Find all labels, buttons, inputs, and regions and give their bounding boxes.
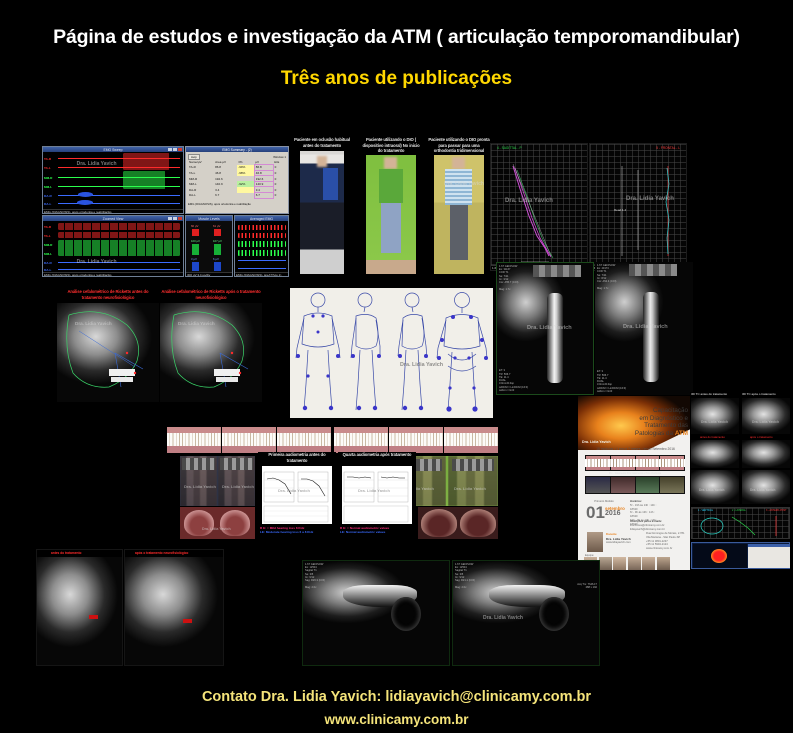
- emg-averaged-status: EMG (DIAGNOSIS), áreA??uto 1): [235, 272, 288, 277]
- flyer-date-month-year: setembro 2016: [605, 506, 625, 517]
- page-title: Página de estudos e investigação da ATM …: [0, 26, 793, 49]
- intraoral-photo-3: [277, 427, 331, 453]
- audiometry-after-line-2: LE: Normal audiometric values: [340, 530, 414, 534]
- ear-canal-void: [391, 597, 421, 631]
- emg-summary-window-label: Window 1: [273, 155, 286, 159]
- muscle-value-3: 100 µV: [191, 239, 200, 243]
- shirt-detail: [323, 168, 338, 200]
- flyer-photo-strip-top: [585, 455, 685, 471]
- emg-averaged-plot: EMG (DIAGNOSIS), áreA??uto 1): [235, 221, 288, 277]
- cervical-mri-right: 1.67 GEN/SOW Ex: 40173 COR T1 Se: 7/11 I…: [595, 262, 693, 395]
- emg-zoomed-plot: TA-R TA-L MM-R MM-L DA-R DA-L Dra. Lidia…: [43, 221, 183, 277]
- emg-channel-label-mm-r: MM-R: [44, 243, 52, 247]
- watermark: Dra. Lidia Yavich: [750, 488, 775, 492]
- level-bar: [214, 262, 221, 271]
- muscle-value-4: 107 µV: [213, 239, 222, 243]
- flyer-address-line-5[interactable]: www.clinicamy.com.br: [646, 547, 688, 551]
- jaw-motion-panel: 1 - VERTICAL 2 - LATERAL 3 - ANTERO-POST: [691, 507, 790, 539]
- patient-photo-2-image: [366, 155, 416, 274]
- tomo-cell-4: [742, 440, 790, 468]
- emg-trace: [58, 262, 180, 263]
- cephalometric-after-caption: Análise cefalométrico de Ricketts após o…: [160, 289, 262, 300]
- flyer-date-number: 01: [586, 506, 605, 520]
- occlusal-photo-after: [418, 507, 498, 539]
- sagittal-trace-svg: [491, 144, 588, 271]
- patient-photo-3: Paciente utilizando o DIO pronta para pa…: [428, 137, 490, 276]
- emg-channel-label-da-r: DA-R: [44, 261, 52, 265]
- emg-burst: [238, 233, 286, 238]
- cephalometric-before: Análise cefalométrico de Ricketts antes …: [57, 289, 159, 402]
- eye-redaction-bar: [452, 459, 494, 471]
- audiometry-after-caption-main: Quarta audiometria após tratamento: [338, 452, 416, 458]
- tmj-corner-meta: Acq Tm: 7h46.1? 288 x 192: [577, 583, 597, 589]
- cell-area: 6.7: [214, 193, 237, 199]
- emg-channel-label-da-l: DA-L: [44, 202, 51, 206]
- emg-sweep-title: EMG Sweep: [103, 148, 122, 152]
- body-chart-svg: [290, 288, 493, 418]
- flyer-date-year: 2016: [605, 511, 625, 517]
- occlusal-arch-2: [220, 510, 250, 536]
- face-blur: [384, 157, 397, 169]
- tomo-cell-5: Dra. Lidia Yavich: [691, 470, 739, 504]
- staff-avatar: [599, 557, 612, 570]
- patient-photo-3-caption: Paciente utilizando o DIO pronta para pa…: [428, 137, 490, 154]
- emg-summary-footer-note: EMG (DIAGNOSIS), após ortodontia e reabi…: [188, 202, 286, 206]
- tmj-mri-right: 1.67 GEN/SOW Ex: 12504 Sagital T1 Se: 3/…: [452, 560, 600, 666]
- emg-burst: [58, 232, 180, 238]
- patient-photo-2: Paciente utilizando o DIO ( dispositivo …: [360, 137, 422, 276]
- emg-channel-label-ta-r: TA-R: [44, 225, 51, 229]
- color-emg-panel: [691, 542, 790, 569]
- intraoral-photo-4: [334, 427, 388, 453]
- frontal-scale-label: Read 1.4: [614, 208, 626, 212]
- floor-detail: [366, 260, 416, 274]
- emg-summary-table: Name/µV Area µV ±% µV Hits TA-R 86.8 -99…: [188, 160, 286, 199]
- emg-channel-label-mm-l: MM-L: [44, 252, 52, 256]
- spinal-cord-region: [547, 293, 563, 383]
- cell-hits: 0: [273, 193, 286, 199]
- marker-label: [89, 615, 98, 619]
- frontal-trace-svg: [590, 144, 687, 271]
- flyer-address-block: Rua Domingos de Morais, 2.781 Vila Maria…: [646, 532, 688, 551]
- intraoral-photo-2: [222, 427, 276, 453]
- flyer-title-line-4: Patologias da: [635, 430, 675, 437]
- eye-redaction-bar: [182, 458, 215, 470]
- intraoral-photo-6: [444, 427, 498, 453]
- tmj-mri-left: 1.67 GEN/SOW Ex: 12504 Sagital T1 Se: 3/…: [302, 560, 450, 666]
- level-bar: [192, 262, 199, 271]
- patient-photo-1-image: [300, 151, 344, 274]
- tomography-header-left: 3D TC antes do tratamento: [691, 392, 727, 396]
- emg-averaged-window[interactable]: Averaged EMG EMG (DIAGNOSIS), áreA??uto …: [234, 215, 289, 277]
- patient-photo-2-caption: Paciente utilizando o DIO ( dispositivo …: [360, 137, 422, 154]
- eye-redaction-bar: [220, 458, 253, 470]
- cell-pct: [237, 193, 254, 199]
- cbct-lateral-before: antes do tratamento: [36, 549, 123, 666]
- flyer-strip-note: Pré - tratamento Pós tratamento e Pós or…: [585, 472, 685, 475]
- watermark: Dra. Lidia Yavich: [701, 420, 728, 424]
- flyer-strip-photo: [660, 477, 684, 493]
- watermark: Dra. Lidia Yavich: [752, 420, 779, 424]
- emg-muscle-title: Muscle Levels: [198, 217, 219, 221]
- cbct-before-image: [37, 557, 123, 666]
- window-controls[interactable]: [168, 217, 182, 221]
- audiometry-before-caption-main: Primeira audiometria antes do tratamento: [258, 452, 336, 463]
- emg-sweep-window[interactable]: EMG Sweep TA-R TA-L MM-R MM-L DA-R DA-L …: [42, 146, 184, 214]
- audiometry-after: Quarta audiometria após tratamento Dra. …: [338, 452, 416, 538]
- emg-burst: [123, 171, 165, 189]
- staff-avatar: [657, 557, 670, 570]
- flyer-strip-photo: [611, 477, 635, 493]
- flyer-speaker-block: Docente Dra. Lidia Yavich www.lidiayavic…: [606, 533, 640, 545]
- cbct-after-caption: após o tratamento neurofisiológico: [135, 551, 188, 555]
- emg-channel-label-ta-l: TA-L: [44, 234, 51, 238]
- ricketts-tracing-svg: [57, 303, 159, 402]
- cbct-lateral-after: após o tratamento neurofisiológico: [124, 549, 224, 666]
- table-row: DA-L 6.7 6.7 0: [188, 193, 286, 199]
- redacted-bar: [629, 264, 677, 276]
- page-subtitle: Três anos de publicações: [0, 68, 793, 90]
- occlusal-arch-3: [421, 509, 457, 537]
- tomo-cell-2: Dra. Lidia Yavich: [742, 398, 790, 434]
- emg-burst: [238, 241, 286, 247]
- tomography-grid: 3D TC antes do tratamento 3D TC após o t…: [690, 392, 793, 570]
- tmj-dicom-meta-left: 1.67 GEN/SOW Ex: 12504 Sagital T1 Se: 3/…: [305, 563, 325, 589]
- emg-muscle-status: 300 µV 3.4 µs/div: [186, 272, 232, 277]
- tomo-cell-1: Dra. Lidia Yavich: [691, 398, 739, 434]
- dicom-meta-bottom: ET: 3 TR: 566.7 TE: 11.4 DUAL 3.0mm/0.0s…: [597, 370, 626, 393]
- emg-burst: [58, 223, 180, 230]
- emg-zoomed-window[interactable]: Zoomed View TA-R TA-L MM-R MM-L DA-R DA-…: [42, 215, 184, 277]
- color-emg-plot: [693, 544, 747, 568]
- level-bar: [214, 229, 221, 236]
- audiometry-after-results: R E: = Normal audiometric values LE: Nor…: [340, 526, 414, 535]
- watermark: Dra. Lidia Yavich: [699, 488, 724, 492]
- cervical-mri-left: 1.67 GEN/SOW Ex: 31167 COR T1 Se: 7/11 I…: [496, 262, 594, 395]
- flyer-strip-photo: [586, 477, 610, 493]
- muscle-value-6: 6 µV: [213, 257, 219, 261]
- table-titlebar: [748, 544, 790, 547]
- jaw-tracking-frontal: 5 - FRONTAL - L Read 1.4 Dra. Lidia Yavi…: [589, 143, 687, 271]
- flyer-brand: Dra. Lidia Yavich: [582, 440, 611, 444]
- emg-trace: [58, 269, 180, 270]
- flyer-col3[interactable]: Inscrições pelos e-mails: inscricoes@cli…: [630, 520, 686, 531]
- emg-zoomed-title: Zoomed View: [103, 217, 124, 221]
- face-photo-before-pair: Dra. Lidia Yavich Dra. Lidia Yavich: [180, 456, 255, 506]
- tomography-row2-label-left: antes do tratamento: [700, 435, 725, 439]
- cephalometric-after-image: Dra. Lidia Yavich: [160, 303, 262, 402]
- ricketts-tracing-svg: [160, 303, 262, 402]
- tomo-cell-6: Dra. Lidia Yavich: [742, 470, 790, 504]
- cephalometric-before-image: Dra. Lidia Yavich: [57, 303, 159, 402]
- audiogram-svg: [262, 466, 332, 524]
- flyer-title: Capacitação em Diagnóstico e Tratamento …: [618, 407, 688, 438]
- emg-summary-body: Help Window 1 Name/µV Area µV ±% µV Hits…: [186, 152, 288, 207]
- emg-channel-label-mm-l: MM-L: [44, 185, 52, 189]
- intraoral-photo-1: [167, 427, 221, 453]
- patient-photo-3-image: Dra. Lidia Yavich: [434, 155, 484, 274]
- tender-points-body-chart: Dra. Lidia Yavich: [290, 288, 493, 418]
- cephalometric-after: Análise cefalométrico de Ricketts após o…: [160, 289, 262, 402]
- occlusal-arch-4: [460, 509, 496, 537]
- occlusal-arch-1: [184, 510, 214, 536]
- jaw-tracking-sagittal: 4 - SAGITTAL - P Dra. Lidia Yavich 1.67 …: [490, 143, 588, 271]
- level-bar: [192, 244, 199, 255]
- flyer-col3-line-2[interactable]: lidiayavich@clinicamy.com.br: [630, 528, 686, 532]
- ear-canal-void: [539, 597, 569, 631]
- cbct-before-caption: antes do tratamento: [51, 551, 81, 555]
- emg-sweep-status: EMG (DIAGNOSIS), após ortodontia e reabi…: [43, 209, 183, 214]
- emg-channel-label-ta-r: TA-R: [44, 157, 51, 161]
- cbct-after-image: [125, 557, 224, 666]
- emg-channel-label-mm-r: MM-R: [44, 176, 52, 180]
- color-emg-table: [748, 544, 790, 568]
- dicom-meta-right: 1.67 GEN/SOW Ex: 40173 COR T1 Se: 7/11 I…: [597, 264, 616, 290]
- color-emg-blob: [711, 549, 727, 563]
- staff-avatar: [628, 557, 641, 570]
- tomo-cell-3: [691, 440, 739, 468]
- cephalometric-before-caption: Análise cefalométrico de Ricketts antes …: [57, 289, 159, 300]
- emg-muscle-plot: 60 µV 61 µV 100 µV 107 µV 3 µV 6 µV 300 …: [186, 221, 232, 277]
- emg-channel-label-ta-l: TA-L: [44, 166, 51, 170]
- emg-burst: [58, 240, 180, 256]
- occlusal-photo-before: Dra. Lidia Yavich: [180, 507, 255, 539]
- dicom-meta-left: 1.67 GEN/SOW Ex: 31167 COR T1 Se: 7/11 I…: [499, 265, 518, 291]
- emg-summary-help-button[interactable]: Help: [188, 154, 200, 160]
- flyer-speaker-site[interactable]: www.lidiayavich.com: [606, 541, 640, 545]
- emg-burst: [238, 250, 286, 256]
- emg-sweep-plot: TA-R TA-L MM-R MM-L DA-R DA-L Dra. Lidia…: [43, 152, 183, 214]
- level-bar: [192, 229, 199, 236]
- emg-channel-label-da-r: DA-R: [44, 194, 52, 198]
- flyer-modules-line: 18 módulos • 1 ano e 7 meses • Início Se…: [584, 447, 687, 451]
- marker-label: [183, 619, 192, 623]
- emg-burst: [238, 225, 286, 230]
- emg-burst: [77, 200, 94, 205]
- emg-burst: [78, 192, 93, 197]
- cell-name: DA-L: [188, 193, 214, 199]
- tomography-row2-label-right: após o tratamento: [750, 435, 773, 439]
- staff-avatar: [613, 557, 626, 570]
- staff-avatar: [642, 557, 655, 570]
- audiometry-before-results: R E: = Mild hearing loss 8 KHz LE: Moder…: [260, 526, 334, 535]
- redacted-bar: [533, 265, 581, 277]
- emg-trace: [238, 268, 286, 269]
- emg-zoomed-status: EMG (DIAGNOSIS), após ortodontia e reabi…: [43, 272, 183, 277]
- emg-burst: [123, 163, 169, 170]
- emg-muscle-levels-window[interactable]: Muscle Levels 60 µV 61 µV 100 µV 107 µV …: [185, 215, 233, 277]
- footer-contact[interactable]: Contato Dra. Lidia Yavich: lidiayavich@c…: [0, 689, 793, 705]
- flyer-title-line-1: Capacitação: [618, 407, 688, 415]
- audiogram-svg: [342, 466, 412, 524]
- dicom-meta-bottom: ET: 3 TR: 566.7 TE: 11.4 DUAL 3.0mm/0.0s…: [499, 369, 528, 392]
- emg-summary-window[interactable]: EMG Summary - (2) Help Window 1 Name/µV …: [185, 146, 289, 214]
- intraoral-photo-5: [389, 427, 443, 453]
- footer-website[interactable]: www.clinicamy.com.br: [0, 712, 793, 727]
- window-controls[interactable]: [168, 148, 182, 152]
- flyer-photo-strip-bottom: [585, 476, 685, 494]
- flyer-title-line-2: em Diagnóstico e: [618, 415, 688, 423]
- patient-photo-1: Paciente em oclusão habitual antes do tr…: [291, 137, 353, 276]
- level-bar: [214, 244, 221, 255]
- pants-detail: [450, 205, 468, 260]
- slide-canvas: Página de estudos e investigação da ATM …: [0, 0, 793, 733]
- course-flyer[interactable]: Dra. Lidia Yavich Capacitação em Diagnós…: [578, 396, 691, 570]
- emg-trace: [238, 260, 286, 261]
- tomography-header-right: 3D TC após o tratamento: [742, 392, 776, 396]
- shirt-detail: [445, 169, 472, 205]
- emg-averaged-title: Averaged EMG: [250, 217, 273, 221]
- spinal-cord-region: [643, 292, 659, 382]
- audiometry-after-chart: Dra. Lidia Yavich: [342, 466, 412, 524]
- face-blur: [452, 157, 465, 169]
- muscle-value-1: 60 µV: [191, 224, 198, 228]
- flyer-strip-photo: [660, 456, 684, 470]
- emg-trace: [58, 195, 180, 196]
- flyer-title-line-3: Tratamento das: [618, 422, 688, 430]
- muscle-value-2: 61 µV: [213, 224, 220, 228]
- flyer-col2-line-2: 6ª - 9h às 13h : 14h : 18h30: [630, 511, 660, 519]
- cell-uv: 6.7: [254, 193, 273, 199]
- watermark: Dra. Lidia Yavich: [483, 615, 523, 621]
- speaker-avatar: [587, 532, 603, 552]
- tmj-dicom-meta-right: 1.67 GEN/SOW Ex: 12504 Sagital T1 Se: 3/…: [455, 563, 475, 589]
- audiometry-before: Primeira audiometria antes do tratamento…: [258, 452, 336, 538]
- flyer-title-accent: ATM: [675, 430, 688, 437]
- patient-photo-1-caption: Paciente em oclusão habitual antes do tr…: [291, 137, 353, 148]
- flyer-strip-photo: [636, 477, 660, 493]
- emg-summary-title: EMG Summary - (2): [222, 148, 252, 152]
- muscle-value-5: 3 µV: [191, 257, 197, 261]
- jeans-detail: [381, 203, 401, 253]
- motion-graphs-svg: [692, 508, 791, 540]
- shirt-detail: [379, 169, 403, 202]
- face-blur: [317, 156, 328, 167]
- audiometry-before-chart: Dra. Lidia Yavich: [262, 466, 332, 524]
- audiometry-before-line-2: LE: Moderate hearing loss 6 a 8 KHz: [260, 530, 334, 534]
